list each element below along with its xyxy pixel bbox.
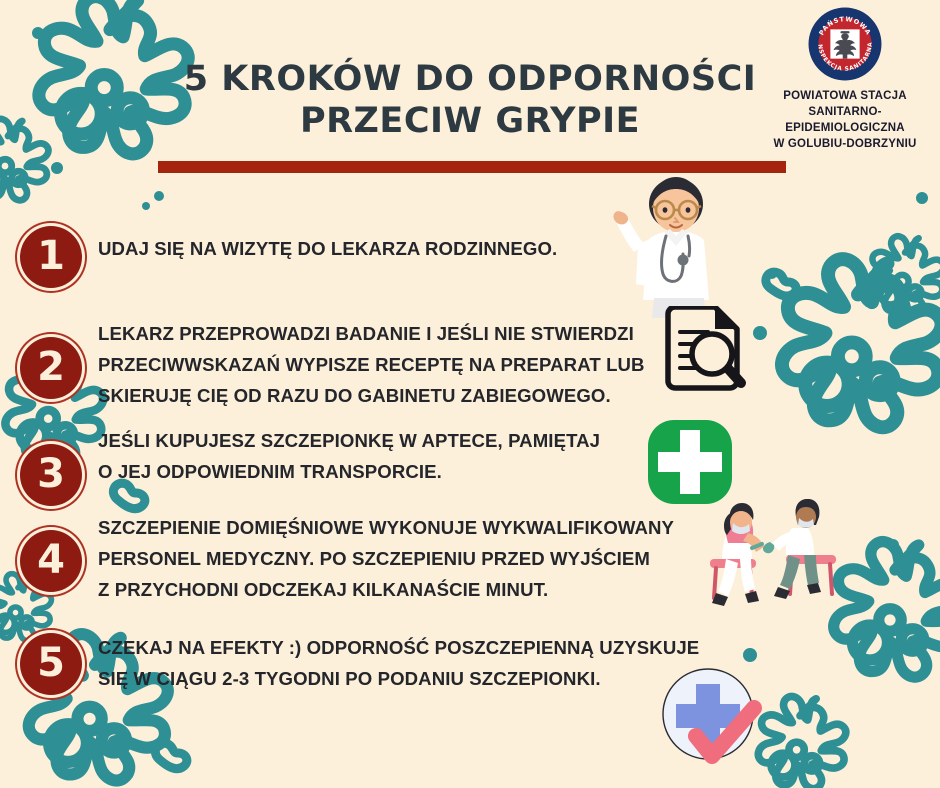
step-badge-3: 3 <box>20 444 82 506</box>
step-3-line-2: O JEJ ODPOWIEDNIM TRANSPORCIE. <box>98 456 600 487</box>
doctor-waving-illustration <box>604 170 736 318</box>
vaccination-scene-illustration <box>700 495 850 617</box>
step-number-3: 3 <box>37 454 65 494</box>
organization-logo: PAŃSTWOWA INSPEKCJA SANITARNA POWIATOWA … <box>752 6 938 152</box>
title-line-2: PRZECIW GRYPIE <box>150 100 790 142</box>
step-2-line-2: PRZECIWWSKAZAŃ WYPISZE RECEPTĘ NA PREPAR… <box>98 349 645 380</box>
step-number-1: 1 <box>37 236 65 276</box>
step-2-line-1: LEKARZ PRZEPROWADZI BADANIE I JEŚLI NIE … <box>98 318 645 349</box>
step-badge-2: 2 <box>20 337 82 399</box>
step-5-line-2: SIĘ W CIĄGU 2-3 TYGODNI PO PODANIU SZCZE… <box>98 663 699 694</box>
step-text-5: CZEKAJ NA EFEKTY :) ODPORNOŚĆ POSZCZEPIE… <box>98 632 699 694</box>
step-4-line-2: PERSONEL MEDYCZNY. PO SZCZEPIENIU PRZED … <box>98 543 674 574</box>
page-title: 5 KROKÓW DO ODPORNOŚCI PRZECIW GRYPIE <box>150 58 790 142</box>
step-text-1: UDAJ SIĘ NA WIZYTĘ DO LEKARZA RODZINNEGO… <box>98 233 557 264</box>
step-text-3: JEŚLI KUPUJESZ SZCZEPIONKĘ W APTECE, PAM… <box>98 425 600 487</box>
logo-caption-line-3: W GOLUBIU-DOBRZYNIU <box>752 136 938 152</box>
green-pharmacy-cross-icon <box>646 418 734 506</box>
document-magnifier-icon <box>660 306 758 392</box>
step-badge-4: 4 <box>20 530 82 592</box>
step-badge-5: 5 <box>20 633 82 695</box>
panstwowa-inspekcja-sanitarna-emblem: PAŃSTWOWA INSPEKCJA SANITARNA <box>807 6 883 82</box>
infographic-poster: 5 KROKÓW DO ODPORNOŚCI PRZECIW GRYPIE <box>0 0 940 788</box>
title-line-1: 5 KROKÓW DO ODPORNOŚCI <box>150 58 790 100</box>
logo-caption-line-2: SANITARNO-EPIDEMIOLOGICZNA <box>752 104 938 136</box>
step-3-line-1: JEŚLI KUPUJESZ SZCZEPIONKĘ W APTECE, PAM… <box>98 425 600 456</box>
logo-caption: POWIATOWA STACJA SANITARNO-EPIDEMIOLOGIC… <box>752 88 938 152</box>
step-1-line-1: UDAJ SIĘ NA WIZYTĘ DO LEKARZA RODZINNEGO… <box>98 233 557 264</box>
step-4-line-1: SZCZEPIENIE DOMIĘŚNIOWE WYKONUJE WYKWALI… <box>98 512 674 543</box>
step-4-line-3: Z PRZYCHODNI ODCZEKAJ KILKANAŚCIE MINUT. <box>98 574 674 605</box>
step-text-4: SZCZEPIENIE DOMIĘŚNIOWE WYKONUJE WYKWALI… <box>98 512 674 605</box>
step-2-line-3: SKIERUJĘ CIĘ OD RAZU DO GABINETU ZABIEGO… <box>98 380 645 411</box>
step-5-line-1: CZEKAJ NA EFEKTY :) ODPORNOŚĆ POSZCZEPIE… <box>98 632 699 663</box>
logo-caption-line-1: POWIATOWA STACJA <box>752 88 938 104</box>
step-number-4: 4 <box>37 540 65 580</box>
step-text-2: LEKARZ PRZEPROWADZI BADANIE I JEŚLI NIE … <box>98 318 645 411</box>
step-badge-1: 1 <box>20 226 82 288</box>
step-number-5: 5 <box>37 643 65 683</box>
step-number-2: 2 <box>37 347 65 387</box>
